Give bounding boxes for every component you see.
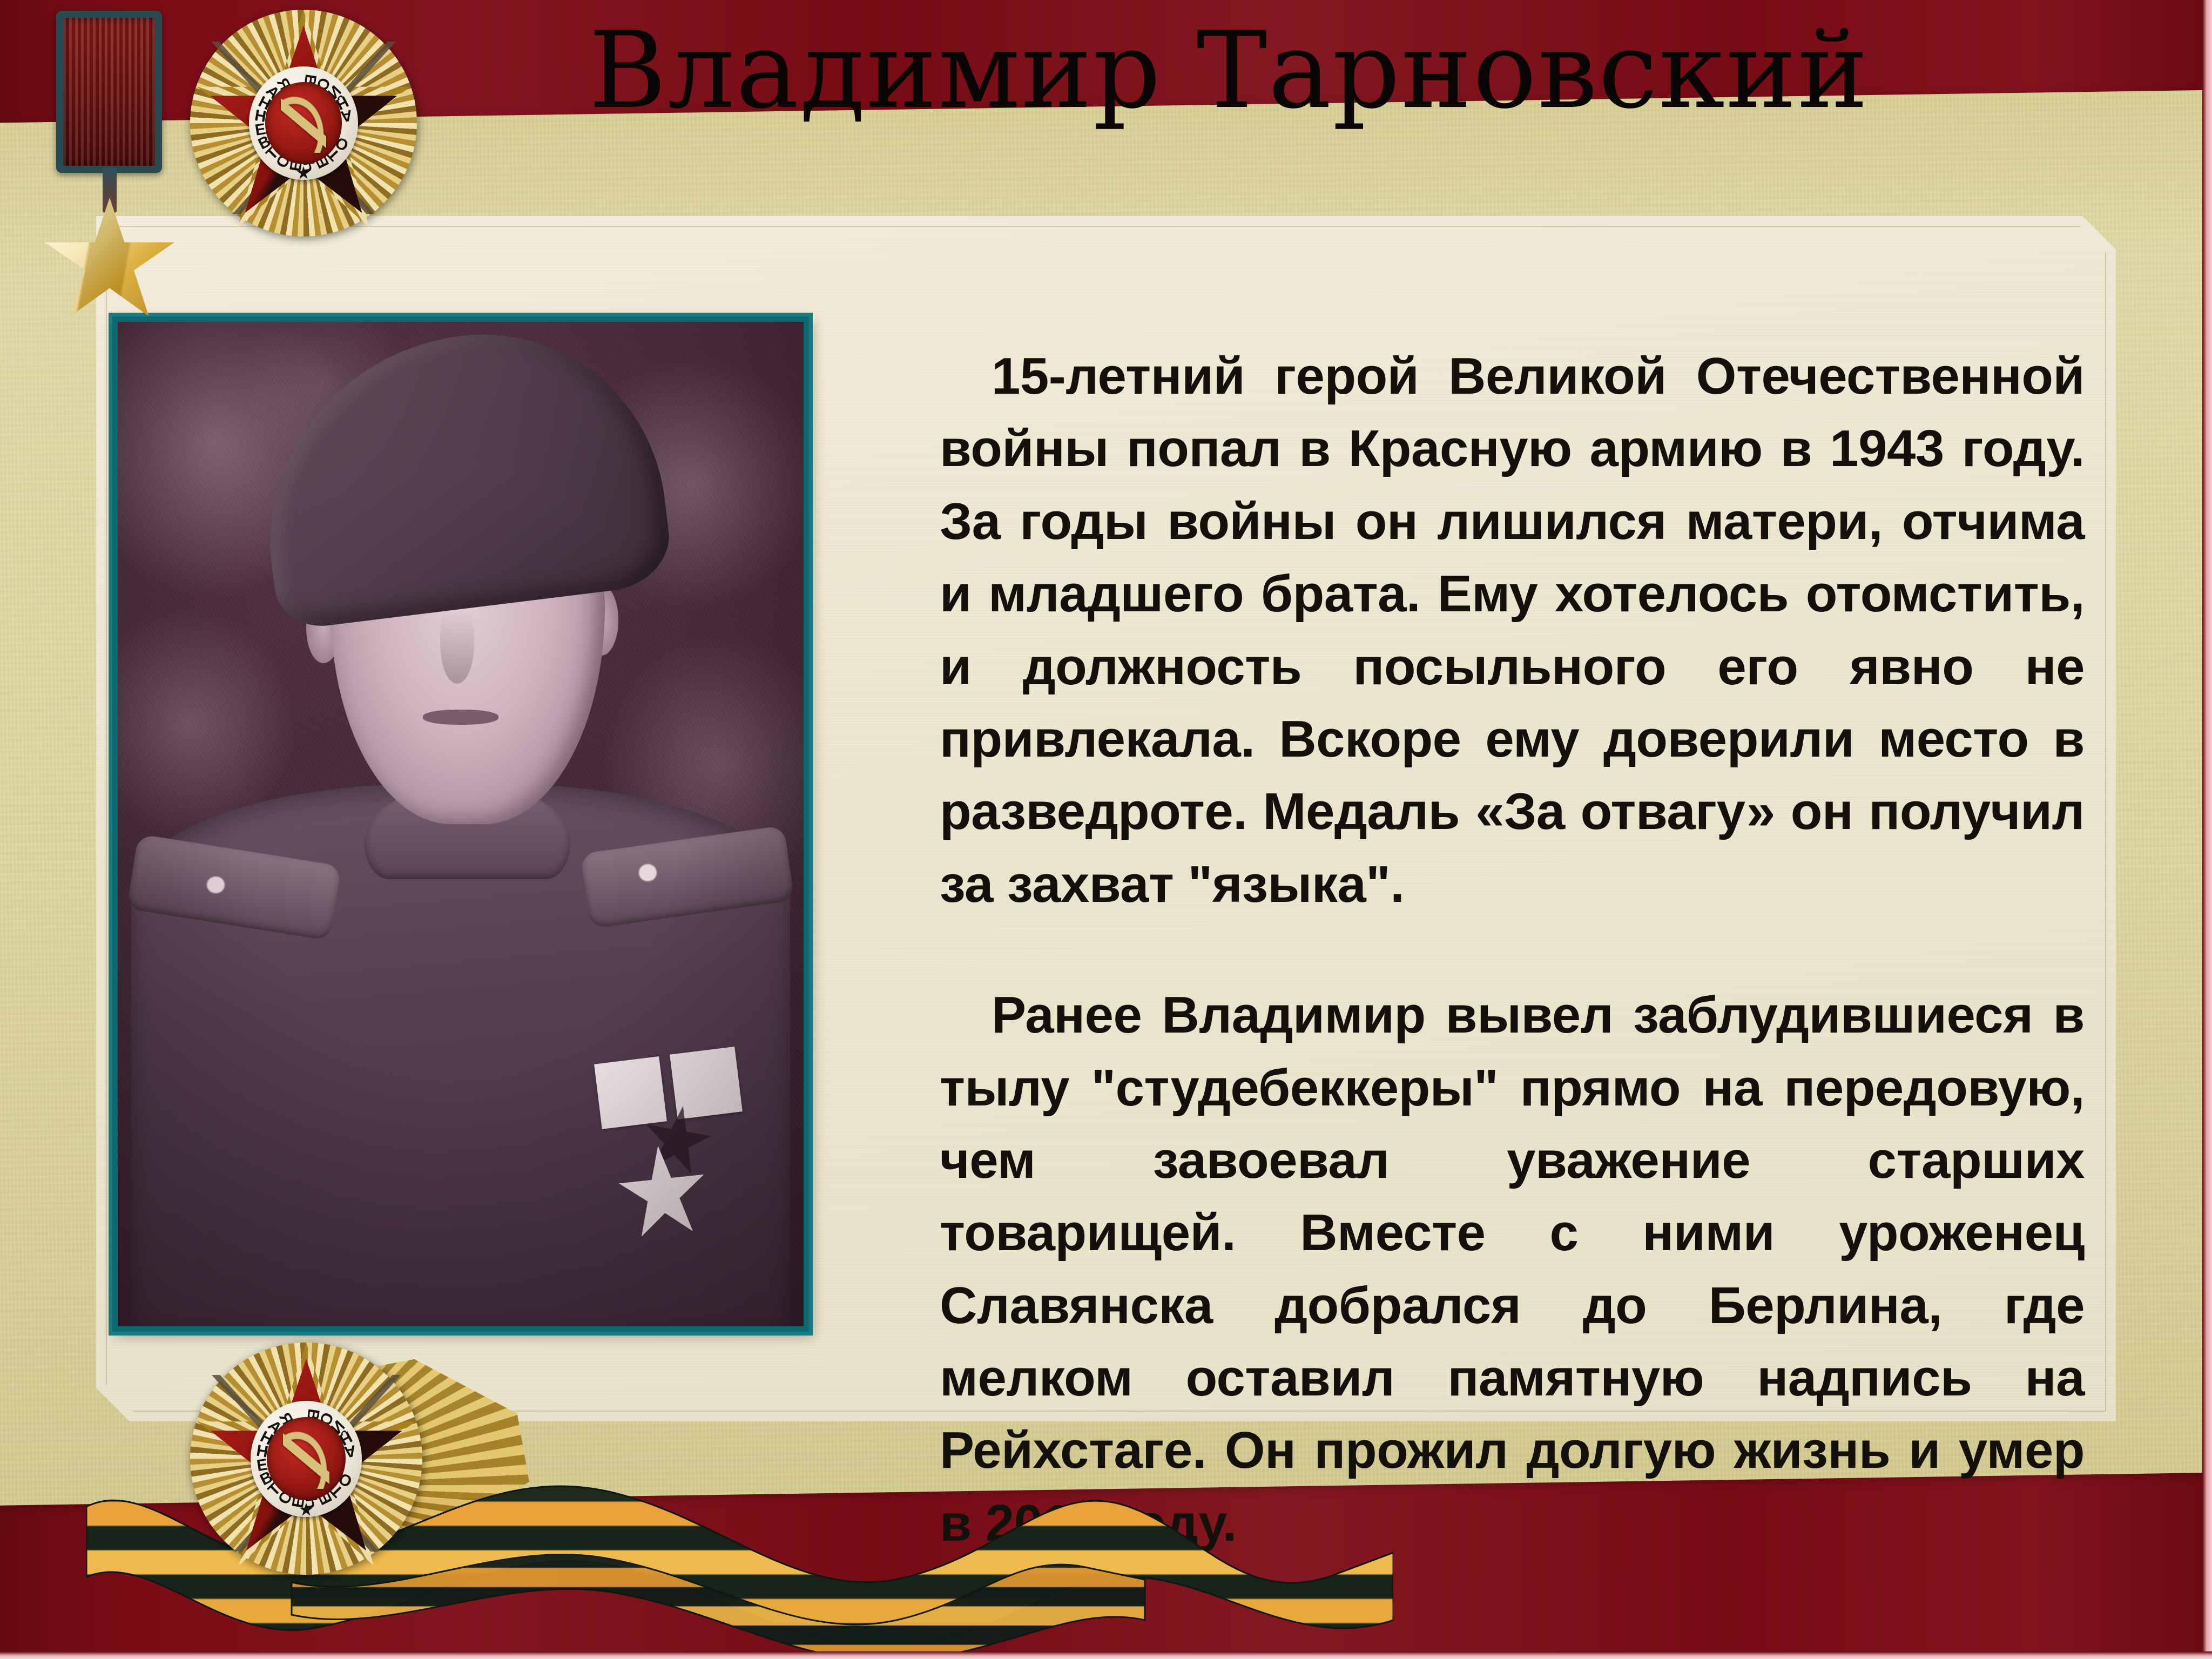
- medal-ribbon-bar: [56, 11, 162, 173]
- body-text-column: 15-летний герой Великой Отечественной во…: [940, 340, 2085, 1560]
- portrait-photo: [118, 322, 804, 1326]
- gold-star-icon: [42, 198, 177, 325]
- slide-bottom-edge: [0, 1651, 2212, 1659]
- order-patriotic-war-icon-bottom: ОТЕЧЕСТВЕННАЯ ВОЙНА: [190, 1343, 422, 1575]
- order-patriotic-war-icon-top: ОТЕЧЕСТВЕННАЯ ВОЙНА: [190, 10, 417, 237]
- hammer-and-sickle-icon: [281, 93, 326, 152]
- body-paragraph-2: Ранее Владимир вывел заблудившиеся в тыл…: [940, 979, 2085, 1560]
- slide-right-edge: [2202, 0, 2212, 1659]
- hammer-and-sickle-icon: [283, 1428, 329, 1489]
- presentation-slide: Владимир Тарновский: [0, 0, 2212, 1659]
- page-title: Владимир Тарновский: [589, 3, 2155, 138]
- gold-star-medal-icon: [28, 8, 190, 310]
- photo-vignette: [118, 322, 804, 1326]
- portrait-photo-frame: [112, 316, 809, 1332]
- body-paragraph-1: 15-летний герой Великой Отечественной во…: [940, 340, 2085, 921]
